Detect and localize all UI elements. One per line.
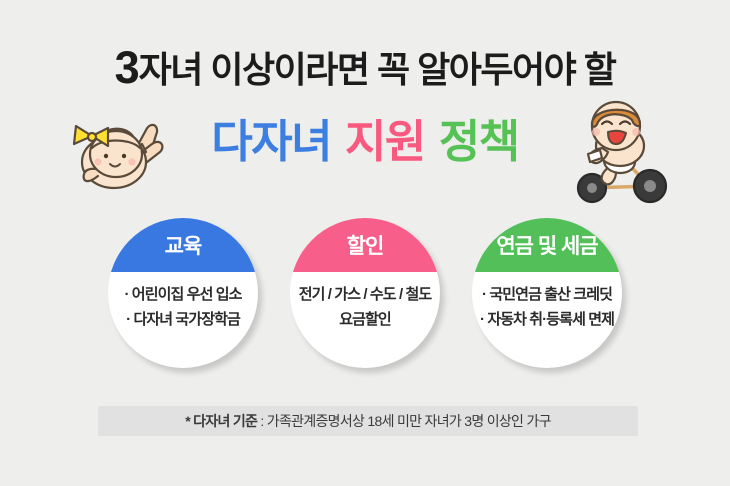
footnote-label: * 다자녀 기준 — [185, 413, 257, 429]
card-circle-pension-tax[interactable]: 연금 및 세금 — [472, 218, 622, 368]
girl-illustration — [62, 104, 174, 204]
title-part-jeongchaek: 정책 — [439, 113, 519, 171]
footnote-body: : 가족관계증명서상 18세 미만 자녀가 3명 이상인 가구 — [257, 413, 551, 429]
footnote-text: * 다자녀 기준 : 가족관계증명서상 18세 미만 자녀가 3명 이상인 가구 — [185, 411, 551, 431]
headline: 3자녀 이상이라면 꼭 알아두어야 할 — [0, 44, 730, 94]
infographic-canvas: 3자녀 이상이라면 꼭 알아두어야 할 다자녀지원정책 — [0, 0, 730, 486]
headline-number: 3 — [115, 42, 139, 93]
card-circle-discount[interactable]: 할인 — [290, 218, 440, 368]
card-label-discount: 할인 — [290, 218, 440, 272]
card-circle-education[interactable]: 교육 — [108, 218, 258, 368]
footnote-bar: * 다자녀 기준 : 가족관계증명서상 18세 미만 자녀가 3명 이상인 가구 — [98, 406, 638, 436]
boy-illustration — [558, 100, 682, 210]
headline-text: 자녀 이상이라면 꼭 알아두어야 할 — [139, 49, 616, 90]
card-label-education: 교육 — [108, 218, 258, 272]
card-label-pension-tax: 연금 및 세금 — [472, 218, 622, 272]
title-part-dajanyeo: 다자녀 — [211, 113, 331, 171]
title-part-jiwon: 지원 — [345, 113, 425, 171]
